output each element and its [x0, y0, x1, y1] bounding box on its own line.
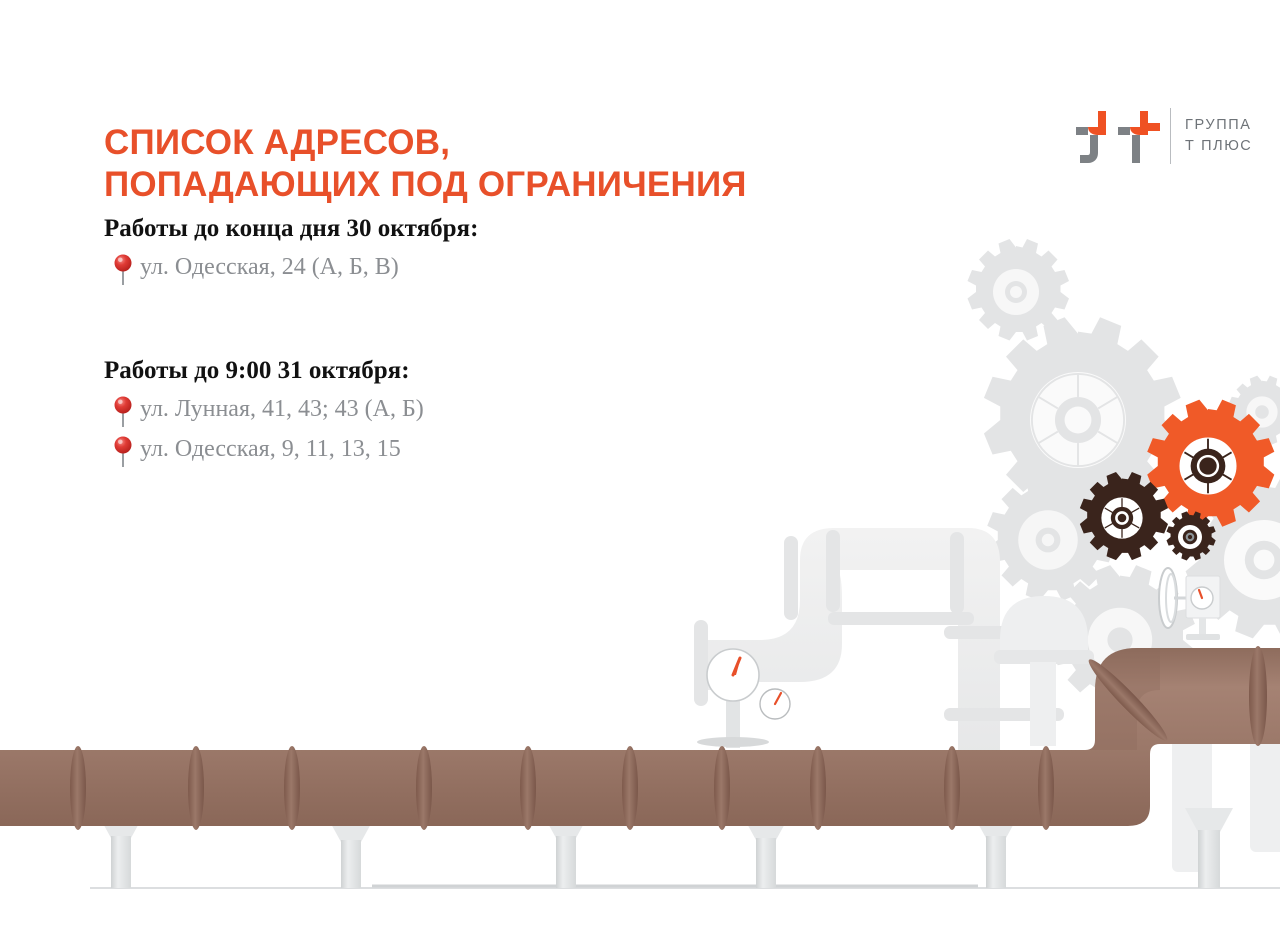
address-list: ул. Лунная, 41, 43; 43 (А, Б) ул. Одесск… — [104, 392, 904, 468]
section-october-31: Работы до 9:00 31 октября: ул. Лунная, 4… — [104, 356, 904, 468]
slide-canvas: ГРУППА Т ПЛЮС СПИСОК АДРЕСОВ, ПОПАДАЮЩИХ… — [0, 0, 1280, 938]
section-heading: Работы до конца дня 30 октября: — [104, 214, 904, 244]
accent-gear-orange — [1147, 400, 1274, 527]
address-text: ул. Одесская, 9, 11, 13, 15 — [140, 432, 401, 466]
accent-gear-dark-medium — [1080, 472, 1168, 560]
pipe-rings — [70, 746, 1054, 830]
logo-divider — [1170, 108, 1171, 164]
pressure-gauge-large — [707, 649, 759, 748]
section-spacer — [104, 290, 904, 356]
section-heading: Работы до 9:00 31 октября: — [104, 356, 904, 386]
pipe-ring-elbow — [1083, 654, 1172, 746]
page-title: СПИСОК АДРЕСОВ, ПОПАДАЮЩИХ ПОД ОГРАНИЧЕН… — [104, 122, 964, 205]
list-item: ул. Лунная, 41, 43; 43 (А, Б) — [104, 392, 904, 428]
map-pin-icon — [110, 252, 136, 286]
map-pin-icon — [110, 434, 136, 468]
accent-gear-dark-small — [1166, 511, 1215, 560]
address-sections: Работы до конца дня 30 октября: — [104, 214, 904, 472]
section-october-30: Работы до конца дня 30 октября: — [104, 214, 904, 286]
map-pin-icon — [110, 394, 136, 428]
pipe-support-columns — [100, 808, 1233, 888]
address-text: ул. Лунная, 41, 43; 43 (А, Б) — [140, 392, 424, 426]
page-title-line-2: ПОПАДАЮЩИХ ПОД ОГРАНИЧЕНИЯ — [104, 164, 964, 205]
list-item: ул. Одесская, 24 (А, Б, В) — [104, 250, 904, 286]
valve-and-gauge-assembly — [1159, 568, 1220, 640]
t-plus-logo-mark — [1072, 105, 1164, 167]
background-gears — [968, 239, 1280, 709]
brand-logo: ГРУППА Т ПЛЮС — [1072, 100, 1262, 172]
page-title-line-1: СПИСОК АДРЕСОВ, — [104, 122, 964, 163]
main-pipeline — [0, 646, 1280, 830]
gauge-base-shadow — [697, 737, 769, 747]
address-text: ул. Одесская, 24 (А, Б, В) — [140, 250, 399, 284]
pressure-gauge-small — [760, 689, 790, 719]
logo-wordmark: ГРУППА Т ПЛЮС — [1185, 115, 1252, 156]
address-list: ул. Одесская, 24 (А, Б, В) — [104, 250, 904, 286]
list-item: ул. Одесская, 9, 11, 13, 15 — [104, 432, 904, 468]
logo-word-line-1: ГРУППА — [1185, 115, 1252, 136]
pipe-ring-riser — [1249, 646, 1267, 746]
background-pipework — [694, 528, 1280, 872]
logo-word-line-2: Т ПЛЮС — [1185, 136, 1252, 157]
